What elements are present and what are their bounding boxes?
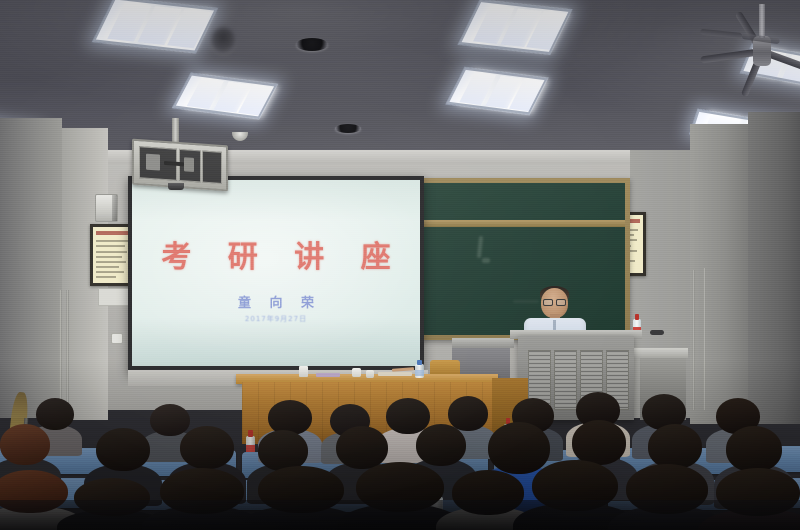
desk-papers: [316, 373, 340, 377]
glasses-icon: [543, 299, 566, 304]
blackboard: [418, 178, 630, 340]
ceiling-vent-icon: [335, 124, 361, 133]
ceiling-vent-icon: [211, 27, 235, 53]
projector-lens-icon: [168, 183, 184, 190]
chalk-smudge: [513, 300, 539, 303]
foreground-shadow: [0, 500, 800, 530]
desk-cup: [366, 370, 374, 378]
right-wall-face: [748, 112, 800, 424]
counter-object: [650, 330, 664, 335]
blackboard-rail: [423, 220, 625, 227]
projection-screen: 考 研 讲 座 童 向 荣 2017年9月27日: [132, 180, 420, 366]
wall-speaker-left: [95, 194, 118, 222]
wall-conduit-right: [703, 268, 706, 410]
wall-conduit-left: [66, 290, 69, 408]
right-wall-column: [690, 124, 748, 424]
blackboard-surface: [423, 183, 625, 335]
ceiling: [0, 0, 800, 158]
left-wall-face: [0, 118, 62, 418]
wall-outlet-left: [111, 333, 123, 344]
podium-side-shelf: [452, 338, 514, 348]
wall-plaque-left: [98, 288, 130, 306]
lecture-hall-photo: 考 研 讲 座 童 向 荣 2017年9月27日: [0, 0, 800, 530]
chalk-smudge: [482, 258, 490, 263]
desk-cup: [352, 368, 361, 377]
desk-papers: [378, 372, 412, 376]
desk-cup: [299, 366, 308, 377]
ceiling-vent-icon: [296, 38, 328, 51]
wall-conduit-right: [692, 270, 695, 410]
water-bottle: [415, 360, 424, 378]
screen-vignette: [132, 180, 420, 366]
wall-conduit-left: [59, 290, 62, 410]
side-counter-top: [634, 348, 688, 358]
podium-vent: [554, 350, 577, 410]
